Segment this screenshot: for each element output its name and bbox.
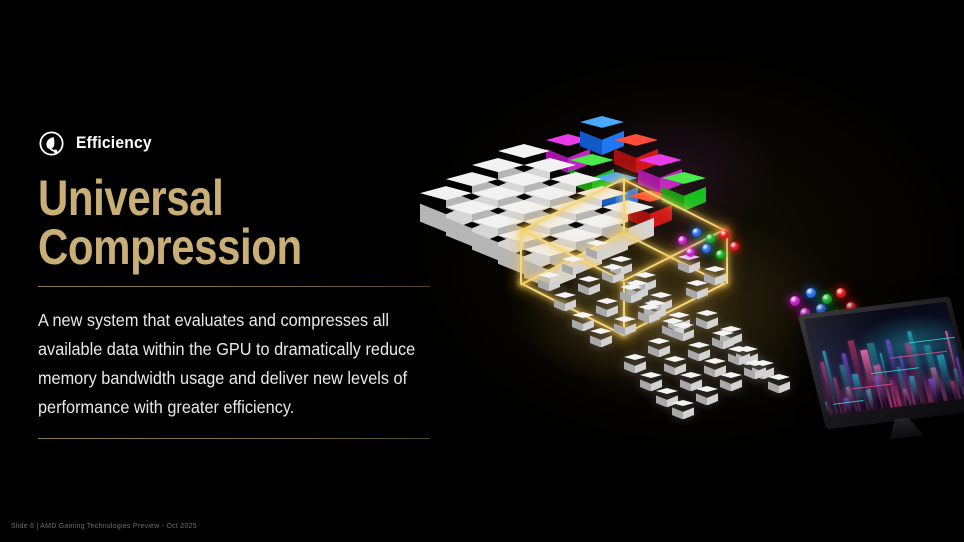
cube-small-white (578, 276, 600, 298)
cube-small-white (686, 280, 708, 302)
cube-small-white (538, 272, 560, 294)
cube-small-white (720, 372, 742, 394)
body-paragraph: A new system that evaluates and compress… (38, 306, 432, 422)
sphere-glow (806, 288, 816, 298)
cube-small-white (672, 400, 694, 422)
slide-footer: Slide 6 | AMD Gaming Technologies Previe… (11, 523, 197, 530)
sphere-glow (822, 294, 832, 304)
slide-canvas: Efficiency Universal Compression A new s… (0, 0, 964, 542)
divider-bottom (38, 438, 430, 439)
sphere-glow (720, 230, 729, 239)
divider-top (38, 286, 430, 287)
sphere-glow (836, 288, 846, 298)
monitor-screen (804, 302, 964, 415)
eyebrow-label: Efficiency (76, 133, 152, 153)
sphere-glow (790, 296, 800, 306)
sphere-cluster-inner (678, 228, 758, 278)
cube-small-white (586, 240, 608, 262)
cube-small-white (562, 256, 584, 278)
eyebrow-row: Efficiency (38, 128, 438, 158)
screen-sheen (804, 302, 964, 415)
cube-small-white (590, 328, 612, 350)
edge-vert-left (520, 230, 522, 284)
sphere-glow (692, 228, 701, 237)
efficiency-leaf-icon (38, 130, 65, 157)
content-column: Efficiency Universal Compression A new s… (38, 128, 438, 439)
cube-small-white (768, 374, 790, 396)
sphere-glow (716, 250, 725, 259)
sphere-glow (702, 244, 711, 253)
gaming-monitor (798, 296, 964, 429)
cube-small-white (696, 310, 718, 332)
sphere-glow (678, 236, 687, 245)
cube-small-white (554, 292, 576, 314)
cube-small-white (602, 264, 624, 286)
cube-small-white (696, 386, 718, 408)
cube-small-white (744, 360, 766, 382)
cube-small-white (672, 322, 694, 344)
artwork-illustration (420, 80, 964, 500)
page-title: Universal Compression (38, 174, 374, 272)
sphere-glow (706, 234, 715, 243)
sphere-glow (730, 242, 739, 251)
sphere-glow (686, 248, 695, 257)
